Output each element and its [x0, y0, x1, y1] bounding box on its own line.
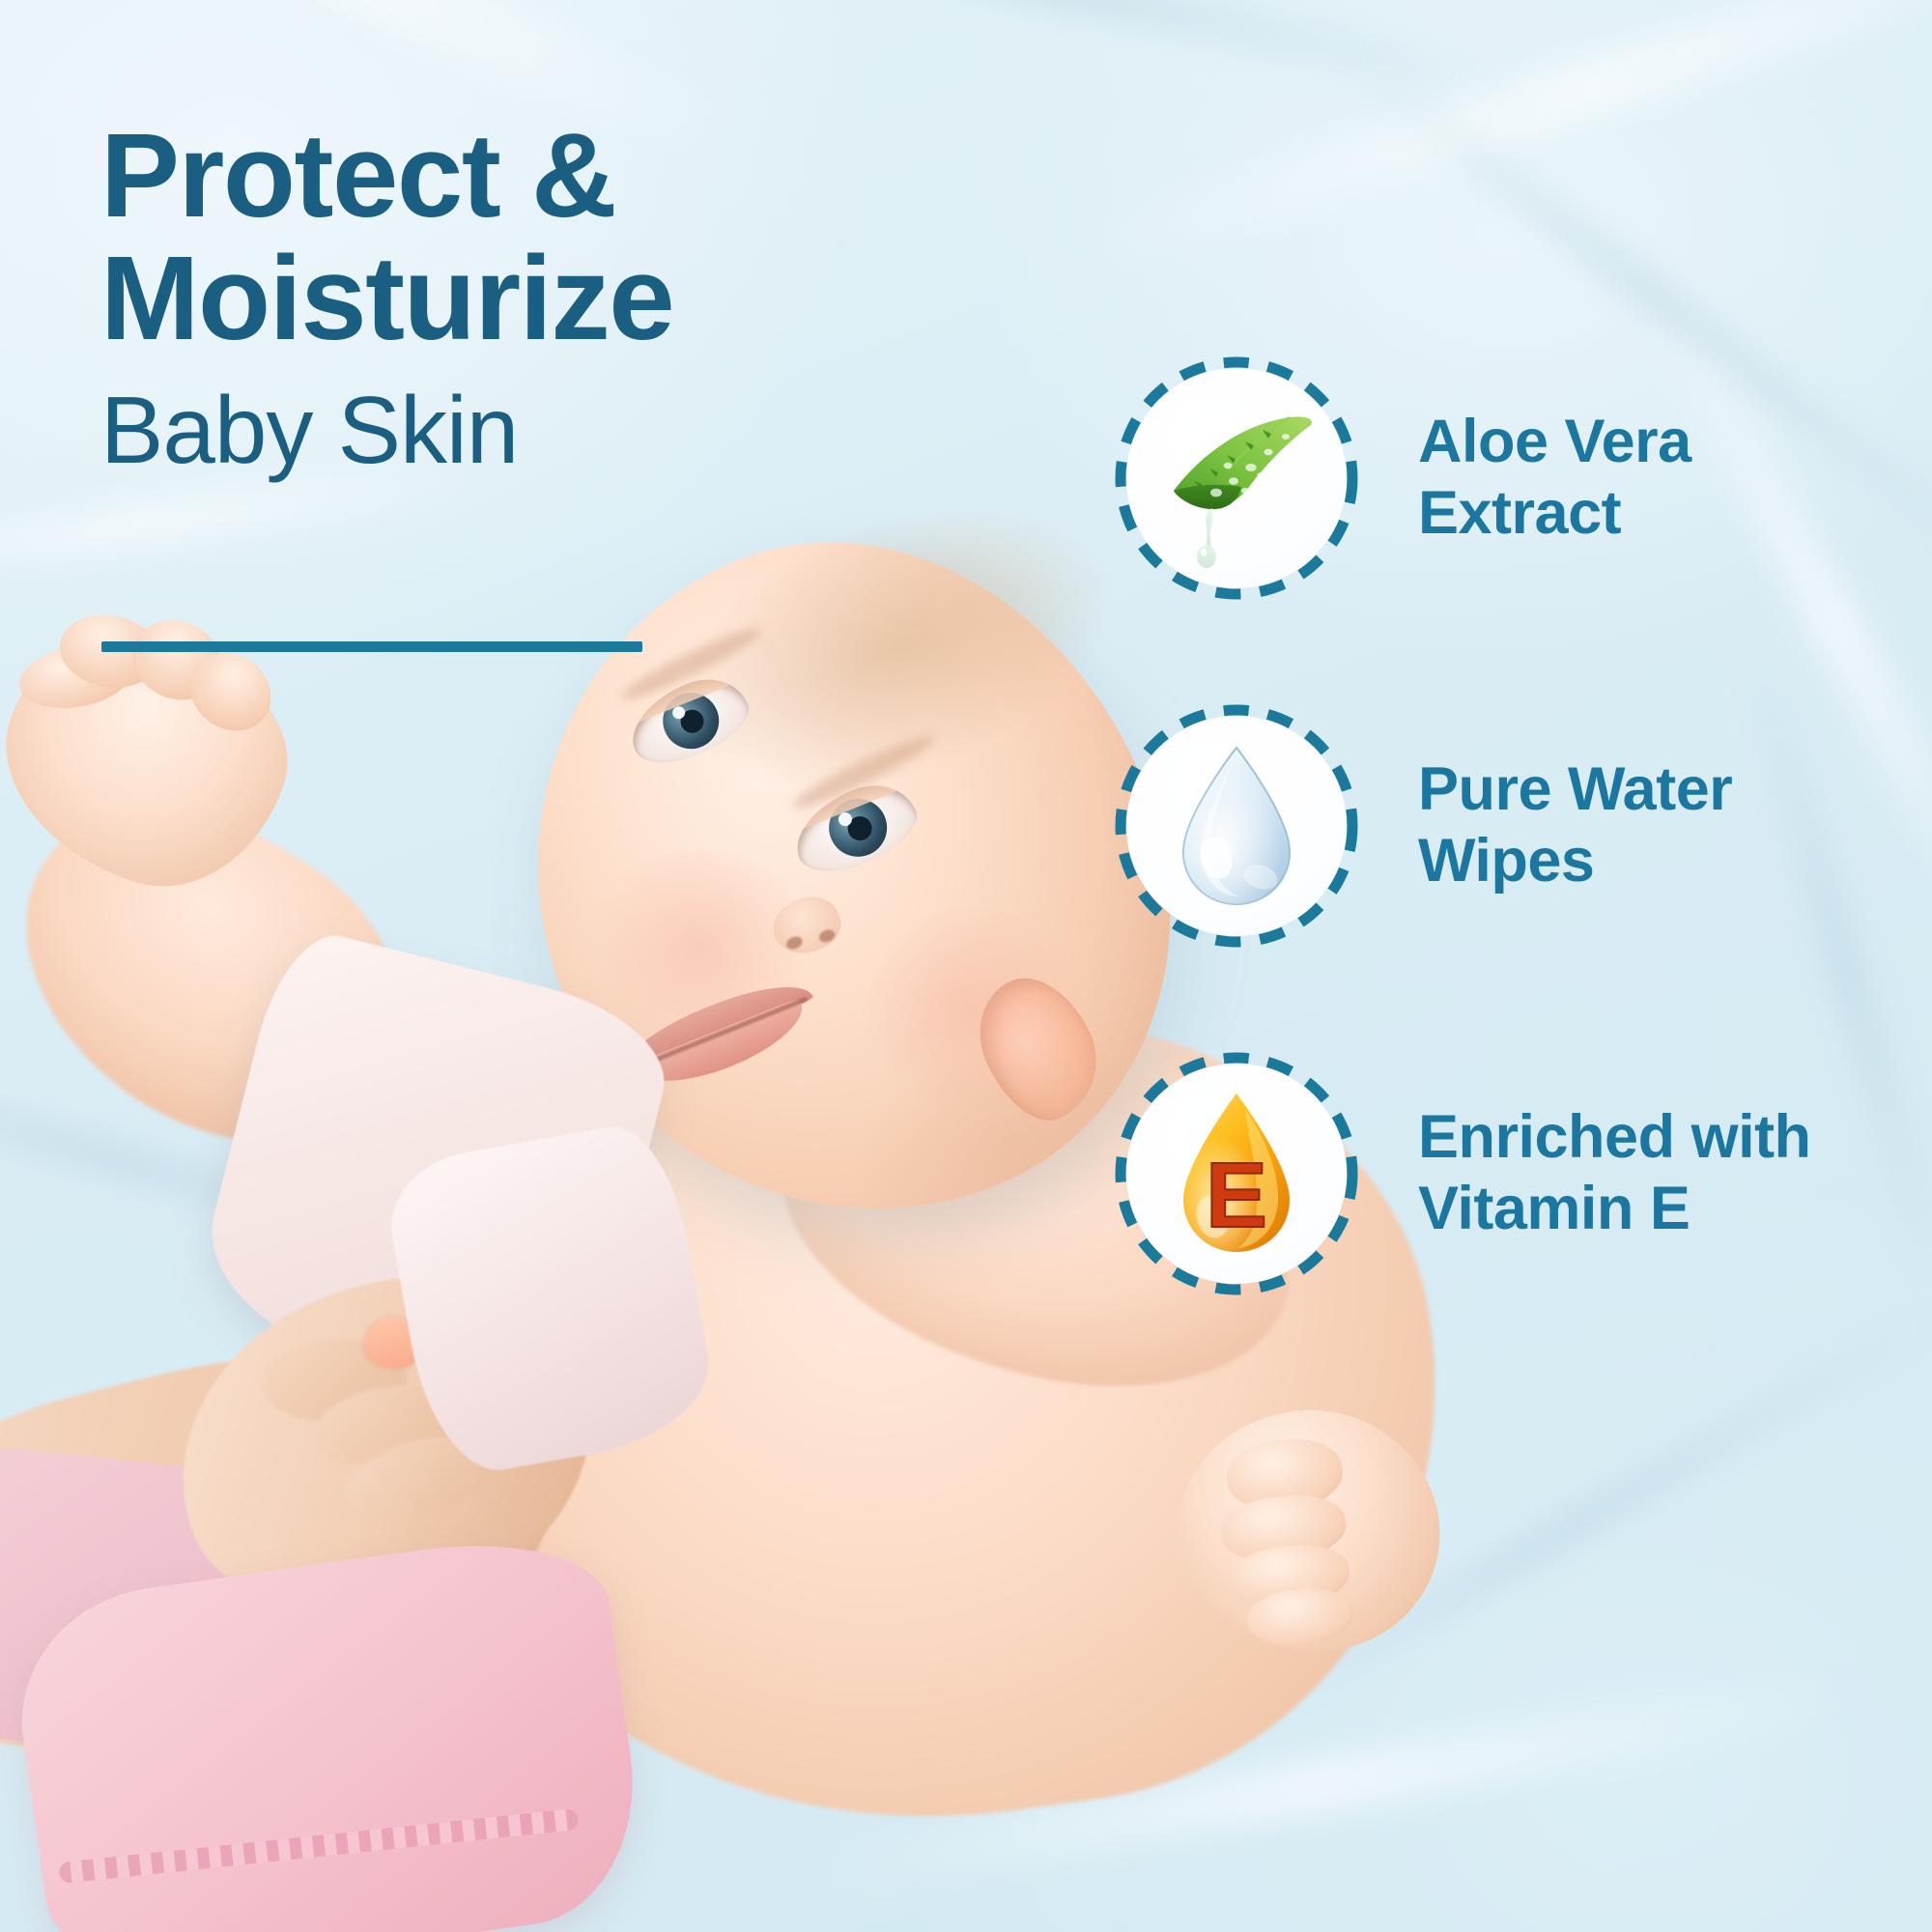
eyebrow-right	[787, 727, 939, 816]
baby-hair	[646, 453, 1150, 841]
baby-mouth	[613, 969, 825, 1104]
feature-label: Pure Water Wipes	[1418, 754, 1732, 896]
baby-eye-right	[783, 771, 926, 884]
baby-wipe	[188, 923, 680, 1414]
feature-item-vitamin-e[interactable]: E Enriched with Vitamin E	[1111, 1053, 1932, 1294]
vitamin-letter: E	[1206, 1144, 1267, 1247]
vitamin-e-droplet-icon: E	[1145, 1082, 1328, 1265]
feature-item-pure-water[interactable]: Pure Water Wipes	[1111, 705, 1932, 947]
baby-eye-left	[619, 666, 758, 776]
feature-list: Aloe Vera Extract	[1111, 357, 1932, 1401]
baby-ear	[959, 960, 1117, 1136]
feature-badge	[1111, 700, 1362, 952]
baby-wipe-fold	[381, 1117, 722, 1481]
pink-diaper	[5, 1525, 652, 1932]
water-droplet-icon	[1145, 734, 1328, 918]
pink-fabric-corner	[0, 1443, 275, 1765]
headline-block: Protect & Moisturize Baby Skin	[100, 116, 931, 484]
feature-label: Aloe Vera Extract	[1418, 407, 1691, 549]
feature-badge: E	[1111, 1048, 1362, 1299]
baby-nose	[765, 888, 848, 963]
fingernail	[436, 1357, 495, 1409]
skin-mark	[710, 1038, 731, 1056]
feature-label: Enriched with Vitamin E	[1418, 1102, 1811, 1244]
adult-forearm	[0, 1289, 594, 1823]
aloe-leaf-icon	[1145, 386, 1328, 570]
navel	[676, 1121, 701, 1142]
baby-right-fist	[1167, 1398, 1452, 1665]
headline-subline: Baby Skin	[100, 378, 931, 484]
feature-badge	[1111, 353, 1362, 604]
headline-line-2: Moisturize	[100, 239, 931, 361]
product-feature-poster: Protect & Moisturize Baby Skin	[0, 0, 1932, 1932]
headline-divider	[101, 641, 642, 652]
cheek-right	[850, 908, 1092, 1111]
adult-hand	[129, 1217, 643, 1672]
diaper-trim	[58, 1808, 579, 1884]
fingernail	[362, 1316, 423, 1370]
baby-left-arm	[0, 746, 462, 1207]
cheek-left	[580, 850, 821, 1043]
feature-item-aloe-vera[interactable]: Aloe Vera Extract	[1111, 357, 1932, 599]
headline-line-1: Protect &	[100, 116, 931, 239]
fingernail	[472, 1413, 535, 1470]
eyebrow-left	[617, 620, 765, 707]
